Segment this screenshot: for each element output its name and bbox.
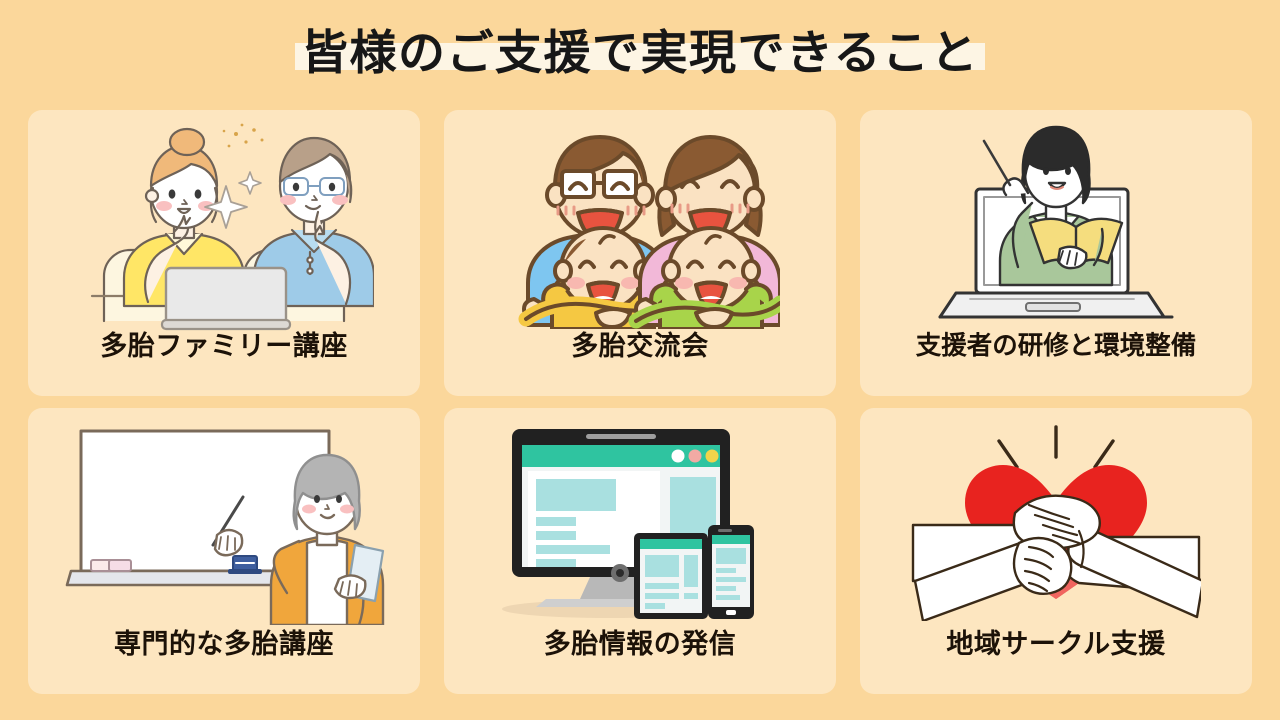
card-tatai-family-course[interactable]: 多胎ファミリー講座 xyxy=(28,110,420,396)
clasped-hands-over-heart-icon xyxy=(860,408,1252,630)
teacher-at-whiteboard-icon xyxy=(28,408,420,630)
online-teacher-in-laptop-icon xyxy=(860,110,1252,332)
page-title: 皆様のご支援で実現できること xyxy=(301,26,979,79)
card-tatai-exchange-meeting[interactable]: 多胎交流会 xyxy=(444,110,836,396)
page-title-area: 皆様のご支援で実現できること xyxy=(0,0,1280,104)
card-label-tatai-family-course: 多胎ファミリー講座 xyxy=(28,332,420,362)
couple-with-laptop-thinking-icon xyxy=(28,110,420,332)
card-supporter-training[interactable]: 支援者の研修と環境整備 xyxy=(860,110,1252,396)
card-label-tatai-exchange-meeting: 多胎交流会 xyxy=(444,332,836,362)
support-items-grid: 多胎ファミリー講座 xyxy=(28,110,1252,694)
card-specialist-tatai-course[interactable]: 専門的な多胎講座 xyxy=(28,408,420,694)
card-label-supporter-training: 支援者の研修と環境整備 xyxy=(860,332,1252,360)
page-title-inner: 皆様のご支援で実現できること xyxy=(295,29,985,76)
card-label-specialist-tatai-course: 専門的な多胎講座 xyxy=(28,630,420,660)
parents-holding-twin-babies-icon xyxy=(444,110,836,332)
card-regional-circle-support[interactable]: 地域サークル支援 xyxy=(860,408,1252,694)
card-label-tatai-information: 多胎情報の発信 xyxy=(444,630,836,660)
card-tatai-information[interactable]: 多胎情報の発信 xyxy=(444,408,836,694)
card-label-regional-circle-support: 地域サークル支援 xyxy=(860,630,1252,660)
responsive-devices-website-icon xyxy=(444,408,836,630)
